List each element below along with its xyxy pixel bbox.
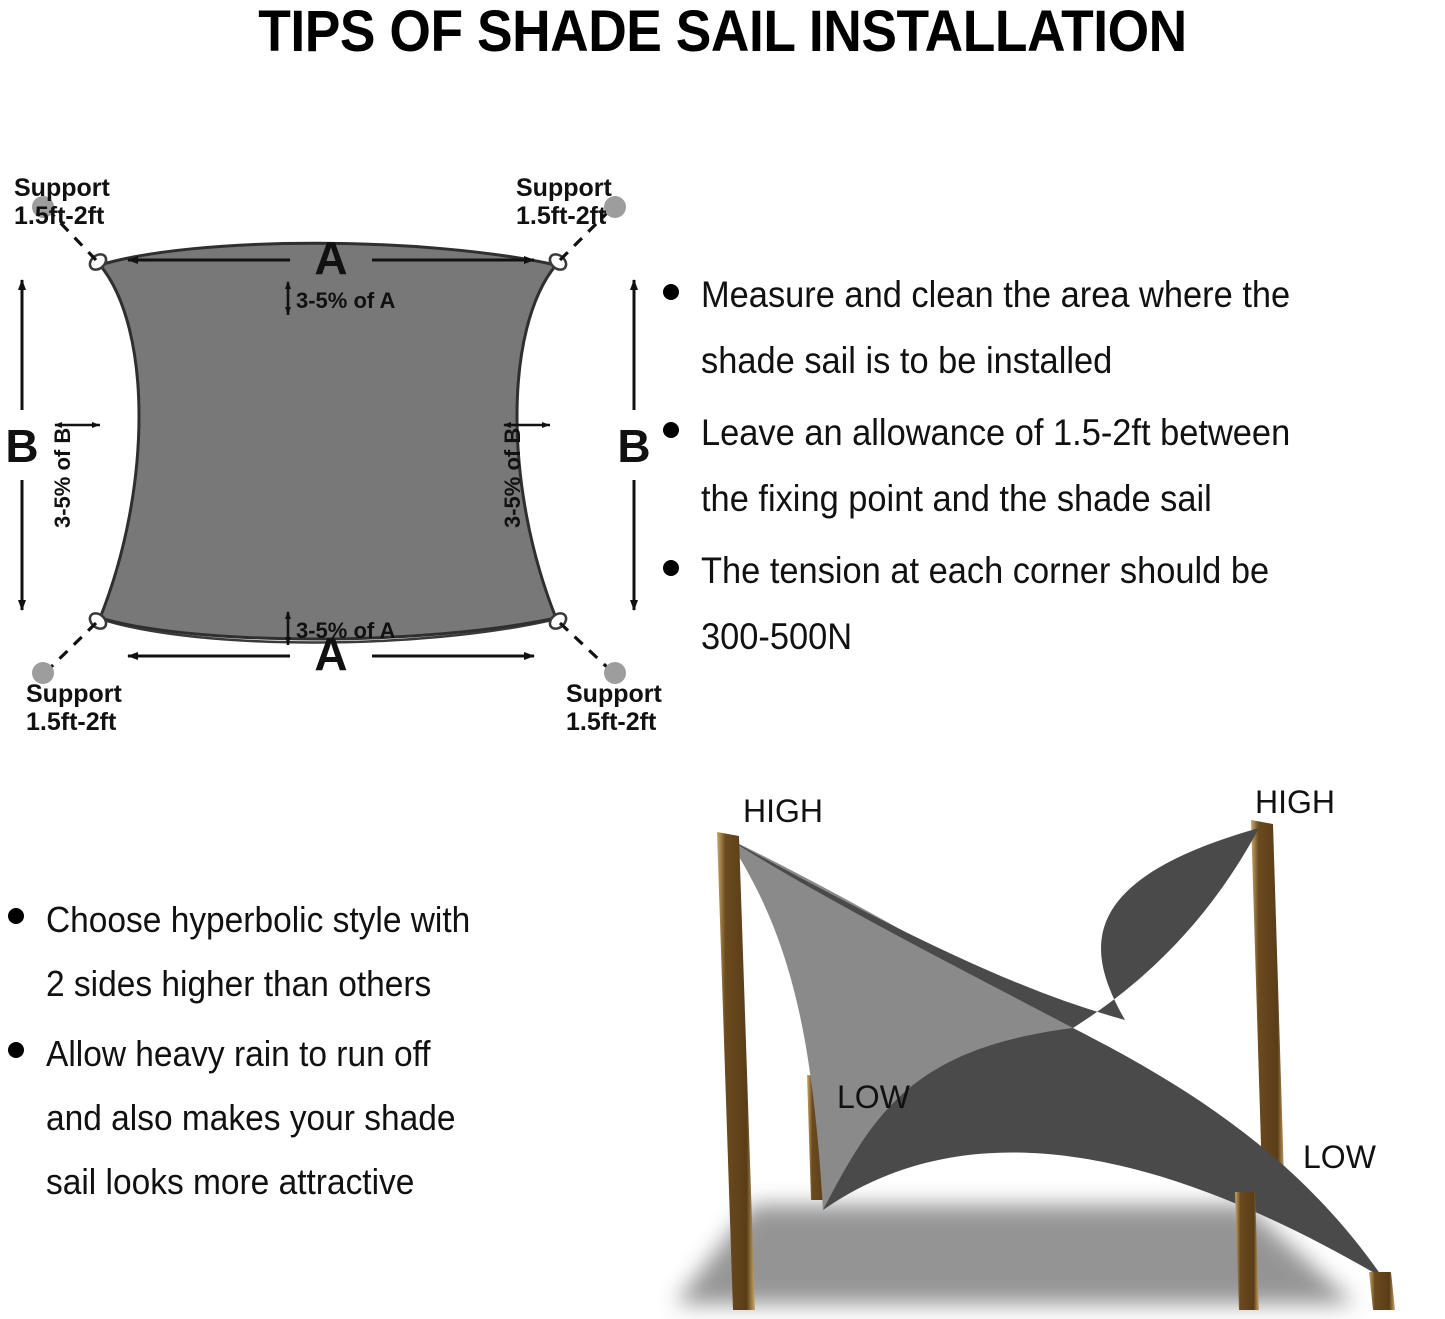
label-low-left: LOW bbox=[837, 1079, 911, 1115]
bullet-dot-icon bbox=[663, 284, 679, 300]
dimension-label-a-top: A bbox=[314, 232, 347, 284]
support-top-left-line1: Support bbox=[14, 174, 110, 202]
bullet-text: The tension at each corner should be 300… bbox=[701, 538, 1393, 670]
label-high-right: HIGH bbox=[1255, 784, 1335, 820]
hyperbolic-style-tips-list: Choose hyperbolic style with 2 sides hig… bbox=[0, 888, 640, 1228]
support-bottom-left-line2: 1.5ft-2ft bbox=[26, 708, 117, 736]
list-item: The tension at each corner should be 300… bbox=[645, 538, 1445, 670]
curve-label-bottom: 3-5% of A bbox=[296, 618, 396, 643]
installation-tips-list: Measure and clean the area where the sha… bbox=[645, 262, 1445, 682]
label-low-right: LOW bbox=[1303, 1139, 1377, 1175]
page-title: TIPS OF SHADE SAIL INSTALLATION bbox=[58, 0, 1387, 64]
list-item: Leave an allowance of 1.5-2ft between th… bbox=[645, 400, 1445, 532]
list-item: Measure and clean the area where the sha… bbox=[645, 262, 1445, 394]
post-high-left bbox=[717, 832, 755, 1310]
bullet-dot-icon bbox=[663, 560, 679, 576]
list-item: Allow heavy rain to run off and also mak… bbox=[0, 1022, 640, 1214]
list-item: Choose hyperbolic style with 2 sides hig… bbox=[0, 888, 640, 1016]
bullet-text: Allow heavy rain to run off and also mak… bbox=[46, 1022, 598, 1214]
support-bottom-left-line1: Support bbox=[26, 680, 122, 708]
hyperbolic-sail-diagram: HIGH HIGH LOW LOW bbox=[655, 780, 1445, 1319]
bullet-dot-icon bbox=[8, 1042, 24, 1058]
bullet-text: Measure and clean the area where the sha… bbox=[701, 262, 1393, 394]
bullet-dot-icon bbox=[663, 422, 679, 438]
post-low-far bbox=[1235, 1192, 1259, 1310]
rectangular-sail-diagram: Support 1.5ft-2ft Support 1.5ft-2ft Supp… bbox=[0, 150, 660, 740]
support-top-right-line1: Support bbox=[516, 174, 612, 202]
curve-label-left: 3-5% of B bbox=[50, 428, 75, 528]
post-low-right bbox=[1369, 1272, 1395, 1310]
bottom-bullet-list: Choose hyperbolic style with 2 sides hig… bbox=[0, 888, 640, 1214]
bullet-text: Leave an allowance of 1.5-2ft between th… bbox=[701, 400, 1393, 532]
curve-label-right: 3-5% of B bbox=[500, 428, 525, 528]
support-line-bottom-left bbox=[50, 623, 96, 668]
support-top-right-line2: 1.5ft-2ft bbox=[516, 202, 607, 230]
support-top-left-line2: 1.5ft-2ft bbox=[14, 202, 105, 230]
label-high-left: HIGH bbox=[743, 793, 823, 829]
curve-label-top: 3-5% of A bbox=[296, 288, 396, 313]
bullet-text: Choose hyperbolic style with 2 sides hig… bbox=[46, 888, 598, 1016]
top-bullet-list: Measure and clean the area where the sha… bbox=[645, 262, 1445, 670]
support-bottom-right-line1: Support bbox=[566, 680, 662, 708]
support-bottom-right-line2: 1.5ft-2ft bbox=[566, 708, 657, 736]
support-line-bottom-right bbox=[560, 623, 608, 668]
dimension-label-b-left: B bbox=[5, 420, 38, 472]
bullet-dot-icon bbox=[8, 908, 24, 924]
